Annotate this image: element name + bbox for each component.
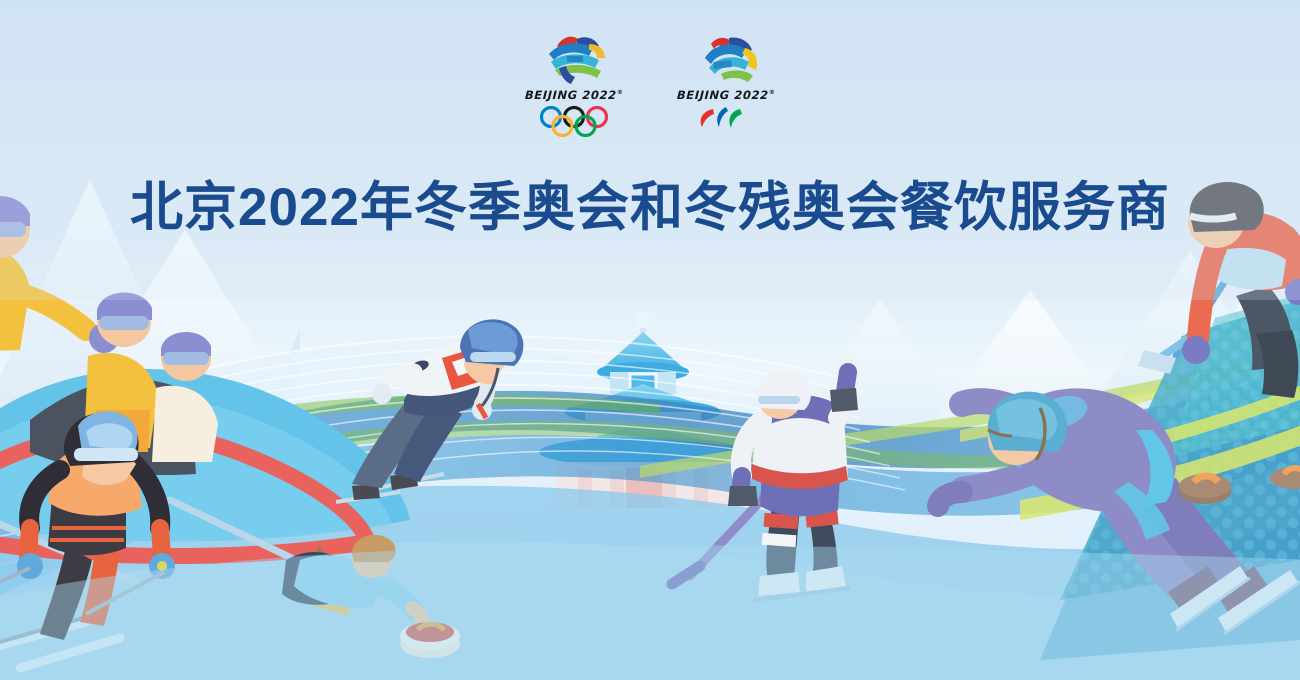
olympic-rings-icon bbox=[538, 105, 610, 137]
paralympic-emblem-mark bbox=[691, 28, 761, 86]
olympic-wordmark: BEIJING 2022® bbox=[524, 88, 623, 102]
paralympic-wordmark: BEIJING 2022® bbox=[677, 88, 776, 102]
paralympic-emblem[interactable]: BEIJING 2022® bbox=[677, 28, 775, 135]
emblem-group: BEIJING 2022® bbox=[0, 28, 1300, 137]
olympic-emblem-mark bbox=[539, 28, 609, 86]
trademark-symbol: ® bbox=[769, 89, 776, 96]
page-title: 北京2022年冬季奥会和冬残奥会餐饮服务商 bbox=[0, 178, 1300, 239]
olympic-emblem[interactable]: BEIJING 2022® bbox=[525, 28, 623, 137]
beijing-2022-banner: BEIJING 2022® bbox=[0, 0, 1300, 680]
trademark-symbol: ® bbox=[616, 89, 623, 96]
agitos-icon bbox=[695, 105, 757, 135]
